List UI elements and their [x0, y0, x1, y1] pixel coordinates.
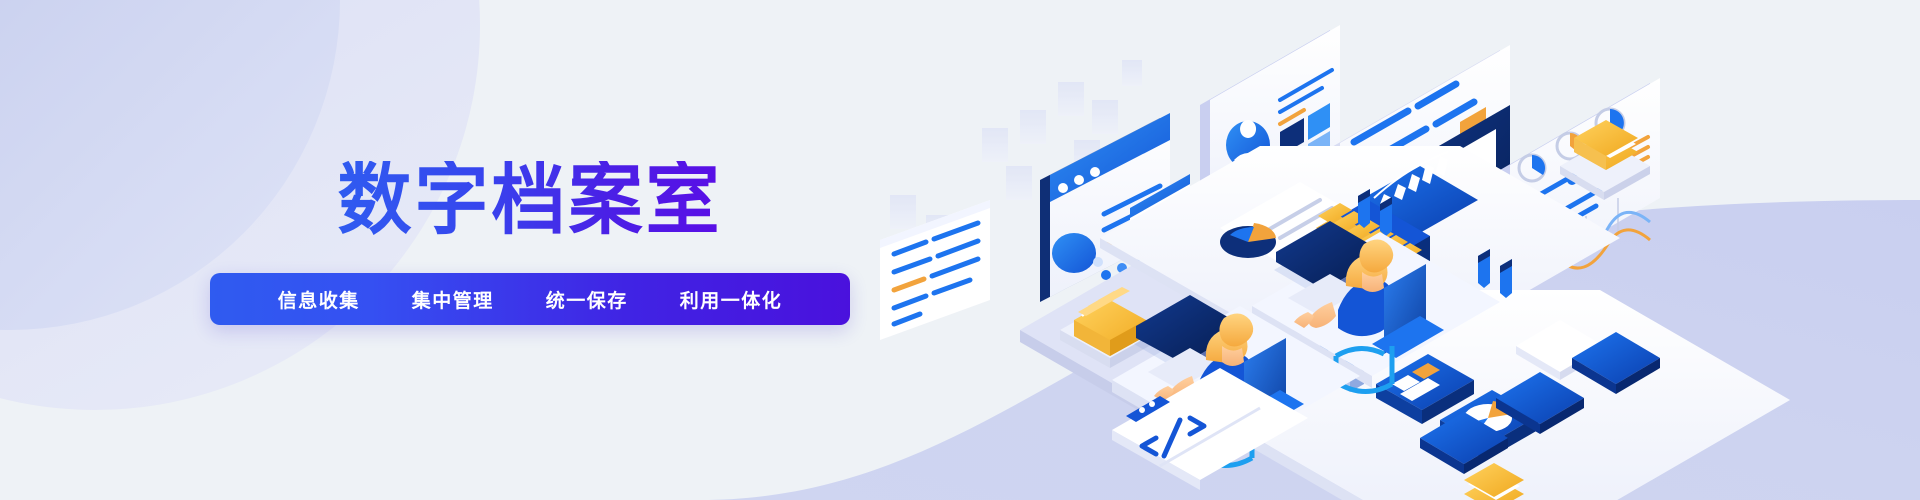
feature-item-2[interactable]: 集中管理 [386, 286, 520, 313]
page-title: 数字档案室 [338, 161, 723, 239]
feature-item-3[interactable]: 统一保存 [520, 286, 654, 313]
feature-item-4[interactable]: 利用一体化 [654, 286, 809, 313]
feature-pill: 信息收集 集中管理 统一保存 利用一体化 [210, 273, 851, 325]
hero-banner: 数字档案室 信息收集 集中管理 统一保存 利用一体化 [0, 0, 1920, 500]
isometric-archive-illustration [860, 0, 1920, 500]
feature-item-1[interactable]: 信息收集 [252, 286, 386, 313]
